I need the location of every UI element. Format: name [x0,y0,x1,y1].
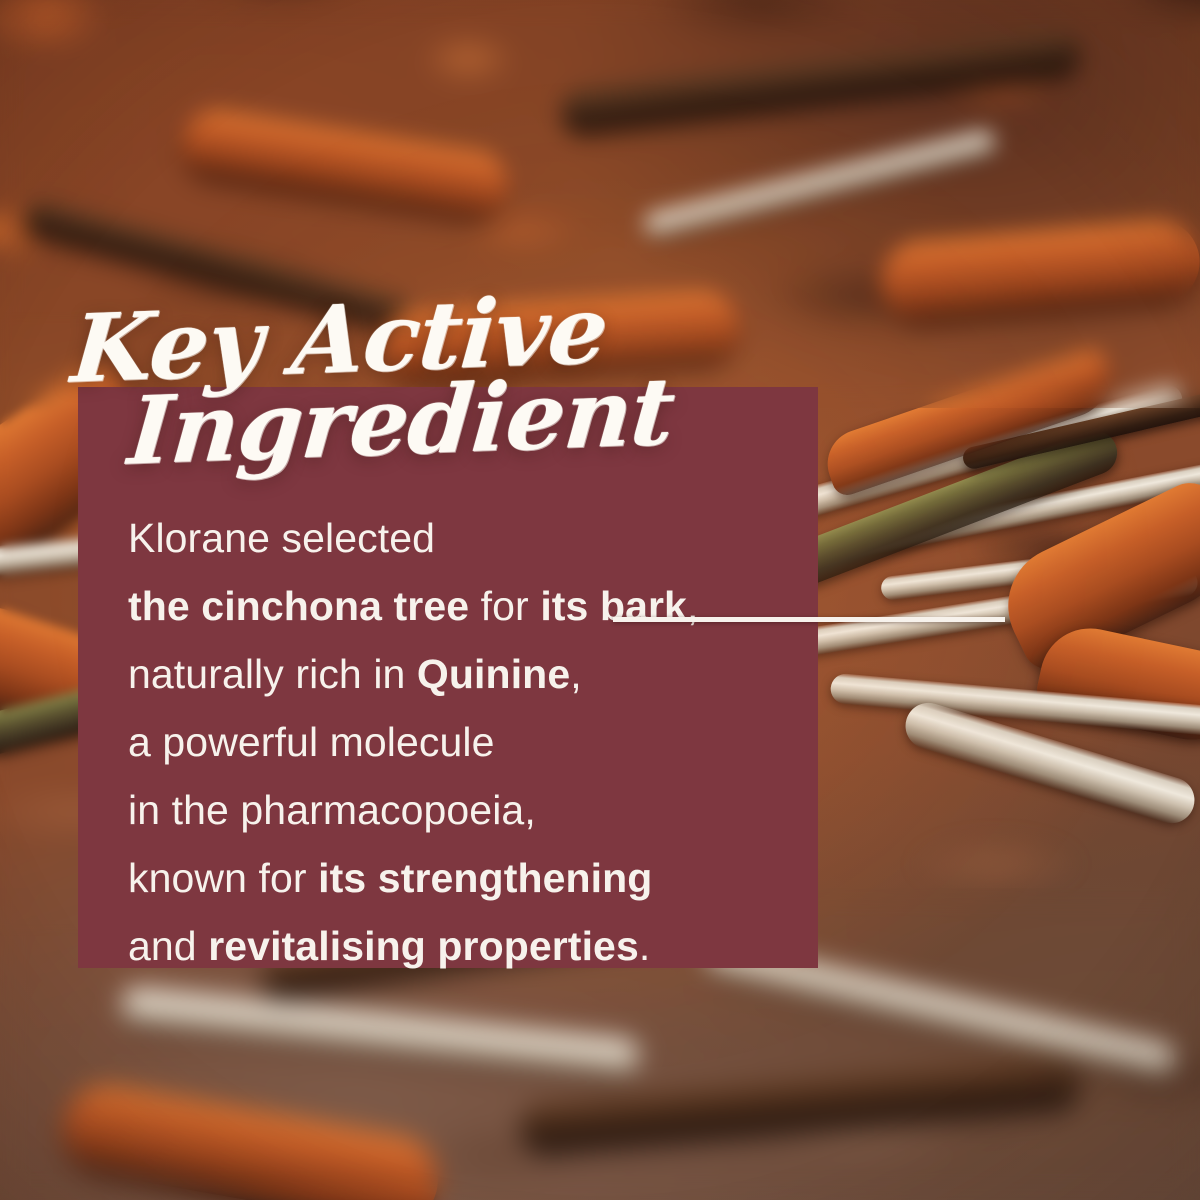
body-line-7-period: . [639,923,651,969]
body-line-7-bold-revitalising: revitalising properties [208,923,639,969]
body-line-7: and revitalising properties. [128,912,828,980]
body-line-3-bold-quinine: Quinine [417,651,570,697]
body-line-2-bold-bark: its bark [540,583,687,629]
ingredient-description: Klorane selected the cinchona tree for i… [128,504,828,980]
body-line-4: a powerful molecule [128,708,828,776]
body-line-3-comma: , [570,651,582,697]
headline-line-2: Ingredient [61,366,688,479]
body-line-1-text: Klorane selected [128,515,435,561]
body-line-6-bold-strengthening: its strengthening [318,855,652,901]
body-line-5: in the pharmacopoeia, [128,776,828,844]
body-line-1: Klorane selected [128,504,828,572]
body-line-3: naturally rich in Quinine, [128,640,828,708]
body-line-3-plain: naturally rich in [128,651,417,697]
body-line-6: known for its strengthening [128,844,828,912]
body-line-5-text: in the pharmacopoeia, [128,787,536,833]
body-line-2-plain: for [469,583,540,629]
body-line-4-text: a powerful molecule [128,719,495,765]
body-line-2-comma: , [687,583,699,629]
poster-canvas: Key Active Ingredient Klorane selected t… [0,0,1200,1200]
body-line-2: the cinchona tree for its bark, [128,572,828,640]
body-line-2-bold-cinchona: the cinchona tree [128,583,469,629]
body-line-7-plain: and [128,923,208,969]
its-bark-underline [613,617,1005,622]
body-line-6-plain: known for [128,855,318,901]
